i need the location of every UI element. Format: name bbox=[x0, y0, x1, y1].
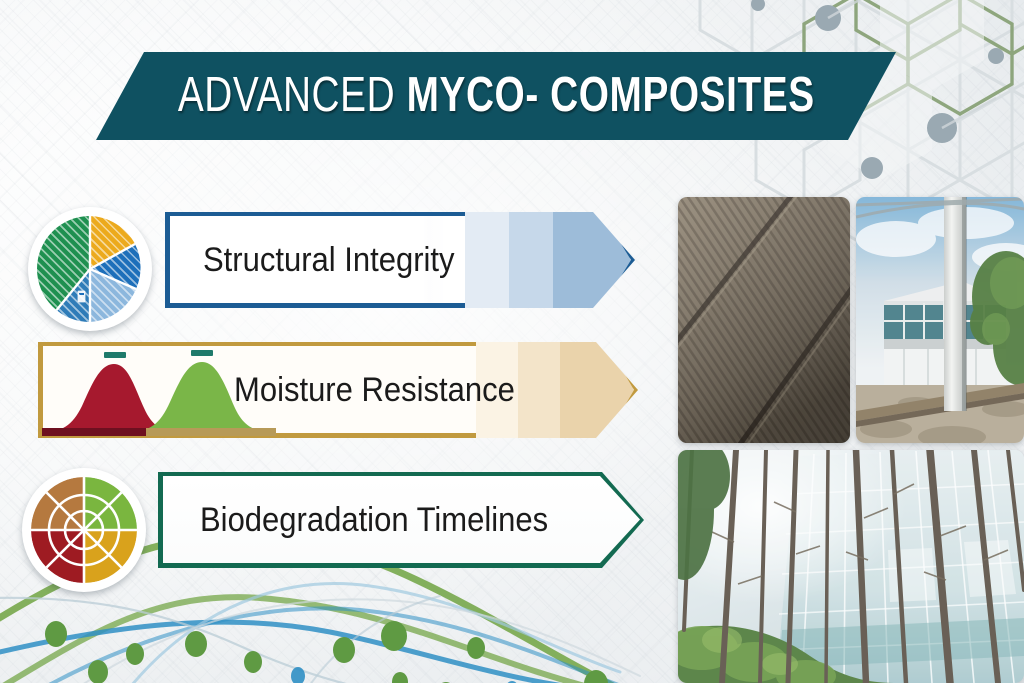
banner-label-structural-integrity: Structural Integrity bbox=[165, 240, 455, 280]
pie-chart-icon bbox=[37, 216, 143, 322]
banner-moisture-resistance[interactable]: Moisture Resistance bbox=[38, 342, 638, 438]
chevron-3 bbox=[560, 342, 634, 438]
banner-label-biodegradation-timelines: Biodegradation Timelines bbox=[158, 500, 548, 540]
slide-canvas: ADVANCED MYCO- COMPOSITES Structural Int… bbox=[0, 0, 1024, 683]
banner-biodegradation-timelines[interactable]: Biodegradation Timelines bbox=[158, 472, 644, 568]
forest-glass-facade-photo bbox=[678, 450, 1024, 683]
chevron-3 bbox=[553, 212, 631, 308]
banner-label-moisture-resistance: Moisture Resistance bbox=[38, 370, 515, 410]
modern-building-column-photo bbox=[856, 197, 1024, 443]
title-banner: ADVANCED MYCO- COMPOSITES bbox=[96, 52, 896, 140]
page-title: ADVANCED MYCO- COMPOSITES bbox=[178, 68, 815, 123]
radar-chart-icon bbox=[31, 477, 137, 583]
page-title-bold: MYCO- COMPOSITES bbox=[406, 68, 814, 122]
icon-medallion-structural-integrity bbox=[28, 207, 152, 331]
weathered-wood-decking-photo bbox=[678, 197, 850, 443]
banner-structural-integrity[interactable]: Structural Integrity bbox=[165, 212, 635, 308]
icon-medallion-biodegradation-timelines bbox=[22, 468, 146, 592]
page-title-light: ADVANCED bbox=[178, 68, 407, 122]
